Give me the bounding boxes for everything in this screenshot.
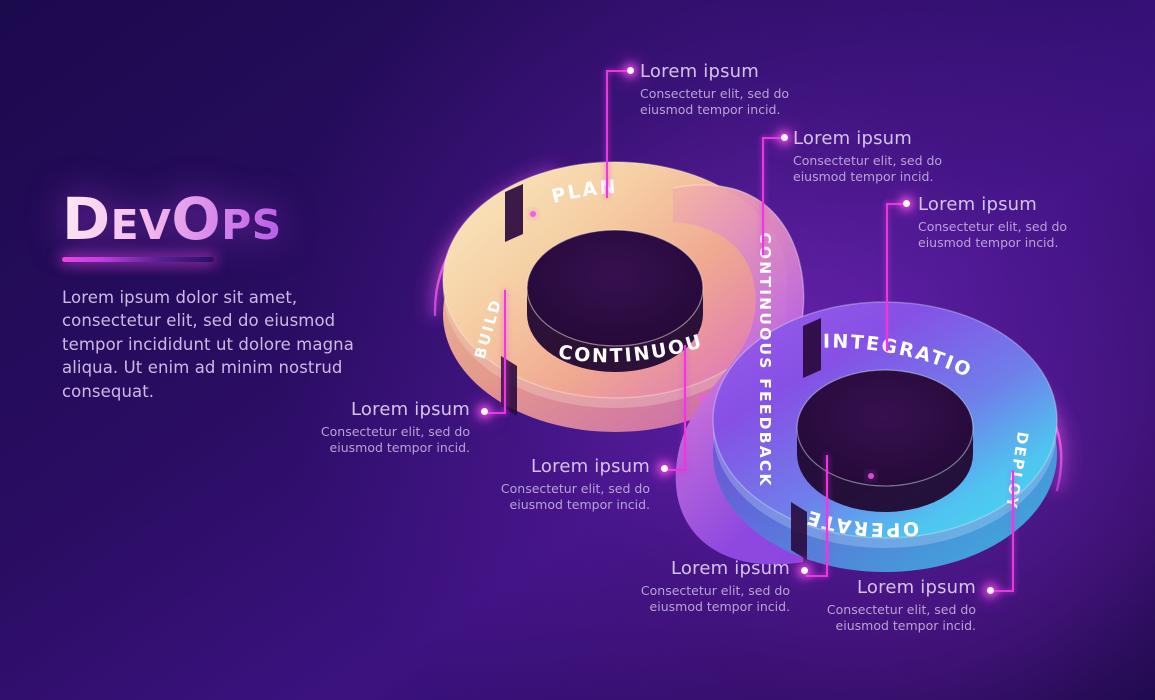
callout-dot-7 bbox=[987, 587, 994, 594]
callout-title: Lorem ipsum bbox=[240, 400, 470, 421]
brand-block: DevOps Lorem ipsum dolor sit amet, conse… bbox=[62, 190, 402, 403]
callout-dot-3 bbox=[903, 200, 910, 207]
callout-dot-4 bbox=[481, 408, 488, 415]
brand-description: Lorem ipsum dolor sit amet, consectetur … bbox=[62, 286, 392, 403]
callout-body: Consectetur elit, sed do eiusmod tempor … bbox=[640, 86, 870, 120]
callout-dot-1 bbox=[627, 67, 634, 74]
callout-title: Lorem ipsum bbox=[560, 559, 790, 580]
callout-7[interactable]: Lorem ipsum Consectetur elit, sed do eiu… bbox=[746, 578, 976, 635]
callout-dot-5 bbox=[661, 465, 668, 472]
callout-1[interactable]: Lorem ipsum Consectetur elit, sed do eiu… bbox=[640, 62, 870, 119]
page-title: DevOps bbox=[62, 190, 402, 248]
infographic-canvas: DevOps Lorem ipsum dolor sit amet, conse… bbox=[0, 0, 1155, 700]
callout-body: Consectetur elit, sed do eiusmod tempor … bbox=[420, 481, 650, 515]
title-underline bbox=[62, 257, 214, 262]
callout-body: Consectetur elit, sed do eiusmod tempor … bbox=[240, 424, 470, 458]
callout-4[interactable]: Lorem ipsum Consectetur elit, sed do eiu… bbox=[240, 400, 470, 457]
callout-2[interactable]: Lorem ipsum Consectetur elit, sed do eiu… bbox=[793, 129, 1023, 186]
callout-body: Consectetur elit, sed do eiusmod tempor … bbox=[793, 153, 1023, 187]
callout-body: Consectetur elit, sed do eiusmod tempor … bbox=[918, 219, 1148, 253]
callout-title: Lorem ipsum bbox=[746, 578, 976, 599]
callout-body: Consectetur elit, sed do eiusmod tempor … bbox=[746, 602, 976, 636]
callout-5[interactable]: Lorem ipsum Consectetur elit, sed do eiu… bbox=[420, 457, 650, 514]
callout-title: Lorem ipsum bbox=[793, 129, 1023, 150]
callout-title: Lorem ipsum bbox=[420, 457, 650, 478]
loop-label-continuous-feedback: CONTINUOUS FEEDBACK bbox=[756, 232, 774, 487]
callout-dot-6 bbox=[801, 567, 808, 574]
callout-dot-2 bbox=[781, 134, 788, 141]
callout-3[interactable]: Lorem ipsum Consectetur elit, sed do eiu… bbox=[918, 195, 1148, 252]
callout-title: Lorem ipsum bbox=[640, 62, 870, 83]
callout-title: Lorem ipsum bbox=[918, 195, 1148, 216]
